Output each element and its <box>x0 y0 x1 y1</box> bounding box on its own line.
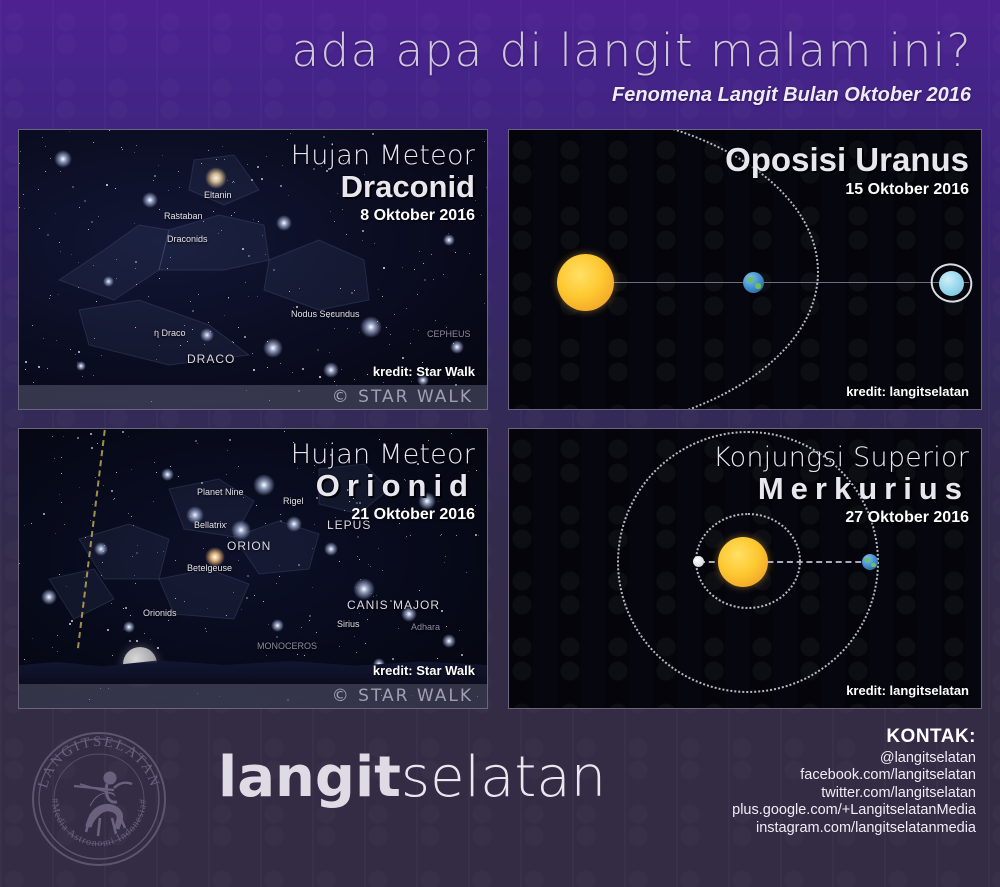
contact-block: KONTAK: @langitselatan facebook.com/lang… <box>732 726 976 836</box>
star-label: CEPHEUS <box>427 329 471 339</box>
star-label: Draconids <box>167 234 208 244</box>
panel-title-line1: Oposisi Uranus <box>725 141 969 179</box>
panel-title-line1: Konjungsi Superior <box>713 442 969 473</box>
panel-title-orionid: Hujan Meteor Orionid 21 Oktober 2016 <box>291 439 475 524</box>
panel-title-merkurius: Konjungsi Superior Merkurius 27 Oktober … <box>713 442 969 527</box>
header: ada apa di langit malam ini? Fenomena La… <box>0 0 1000 120</box>
panel-title-uranus: Oposisi Uranus 15 Oktober 2016 <box>725 143 969 199</box>
panel-credit-draconid: kredit: Star Walk <box>373 364 475 379</box>
contact-handle[interactable]: @langitselatan <box>732 750 976 766</box>
panel-orionid[interactable]: Hujan Meteor Orionid 21 Oktober 2016 kre… <box>18 428 488 709</box>
panel-title-line2: Merkurius <box>713 471 969 507</box>
mercury-body <box>693 556 704 567</box>
panel-credit-merkurius: kredit: langitselatan <box>846 683 969 698</box>
uranus-group <box>927 263 975 303</box>
panel-title-draconid: Hujan Meteor Draconid 8 Oktober 2016 <box>291 140 475 225</box>
star-label: Orionids <box>143 608 177 618</box>
star-label: η Draco <box>154 328 186 338</box>
page-subtitle: Fenomena Langit Bulan Oktober 2016 <box>612 84 971 107</box>
panel-date: 21 Oktober 2016 <box>291 506 475 524</box>
star-label: MONOCEROS <box>257 641 317 651</box>
contact-instagram[interactable]: instagram.com/langitselatanmedia <box>732 820 976 836</box>
page-title: ada apa di langit malam ini? <box>291 24 972 77</box>
panel-title-line1: Hujan Meteor <box>291 140 475 171</box>
sun-body <box>557 254 614 311</box>
starwalk-watermark-bar-draconid: © STAR WALK <box>19 385 487 409</box>
svg-text:LANGITSELATAN: LANGITSELATAN <box>35 734 163 790</box>
star-label: Sirius <box>337 619 360 629</box>
starwalk-watermark-text: © STAR WALK <box>332 686 473 706</box>
panel-draconid[interactable]: Hujan Meteor Draconid 8 Oktober 2016 kre… <box>18 129 488 410</box>
contact-gplus[interactable]: plus.google.com/+LangitselatanMedia <box>732 802 976 818</box>
panel-title-line2: Orionid <box>291 468 475 504</box>
star-label: Eltanin <box>204 190 232 200</box>
star-label: Rastaban <box>164 211 203 221</box>
star-label: Nodus Secundus <box>291 309 360 319</box>
langitselatan-logo[interactable]: LANGITSELATAN #Media Astronomi Indonesia… <box>28 728 170 870</box>
panel-date: 8 Oktober 2016 <box>291 207 475 225</box>
contact-facebook[interactable]: facebook.com/langitselatan <box>732 767 976 783</box>
earth-body <box>743 272 764 293</box>
panel-date: 15 Oktober 2016 <box>725 181 969 199</box>
panel-uranus[interactable]: Oposisi Uranus 15 Oktober 2016 kredit: l… <box>508 129 982 410</box>
brand-wordmark: langitselatan <box>218 750 606 806</box>
star-label: Betelgeuse <box>187 563 232 573</box>
brand-bold: langit <box>218 745 401 810</box>
brand-light: selatan <box>401 745 606 810</box>
star-label: ORION <box>227 539 271 553</box>
panel-merkurius[interactable]: Konjungsi Superior Merkurius 27 Oktober … <box>508 428 982 709</box>
panel-date: 27 Oktober 2016 <box>713 509 969 527</box>
star-label: DRACO <box>187 352 235 366</box>
star-label: Planet Nine <box>197 487 244 497</box>
panel-title-line2: Draconid <box>291 169 475 205</box>
uranus-ring <box>926 258 978 308</box>
earth-body <box>862 554 878 570</box>
panel-credit-uranus: kredit: langitselatan <box>846 384 969 399</box>
panel-credit-orionid: kredit: Star Walk <box>373 663 475 678</box>
starwalk-watermark-text: © STAR WALK <box>332 387 473 407</box>
opposition-alignment-line <box>559 282 969 283</box>
star-label: Bellatrix <box>194 520 226 530</box>
starwalk-watermark-bar-orionid: © STAR WALK <box>19 684 487 708</box>
sun-body <box>718 537 768 587</box>
contact-title: KONTAK: <box>732 726 976 748</box>
star-label: Adhara <box>411 622 440 632</box>
star-label: CANIS MAJOR <box>347 598 440 612</box>
panel-title-line1: Hujan Meteor <box>291 439 475 470</box>
contact-twitter[interactable]: twitter.com/langitselatan <box>732 785 976 801</box>
